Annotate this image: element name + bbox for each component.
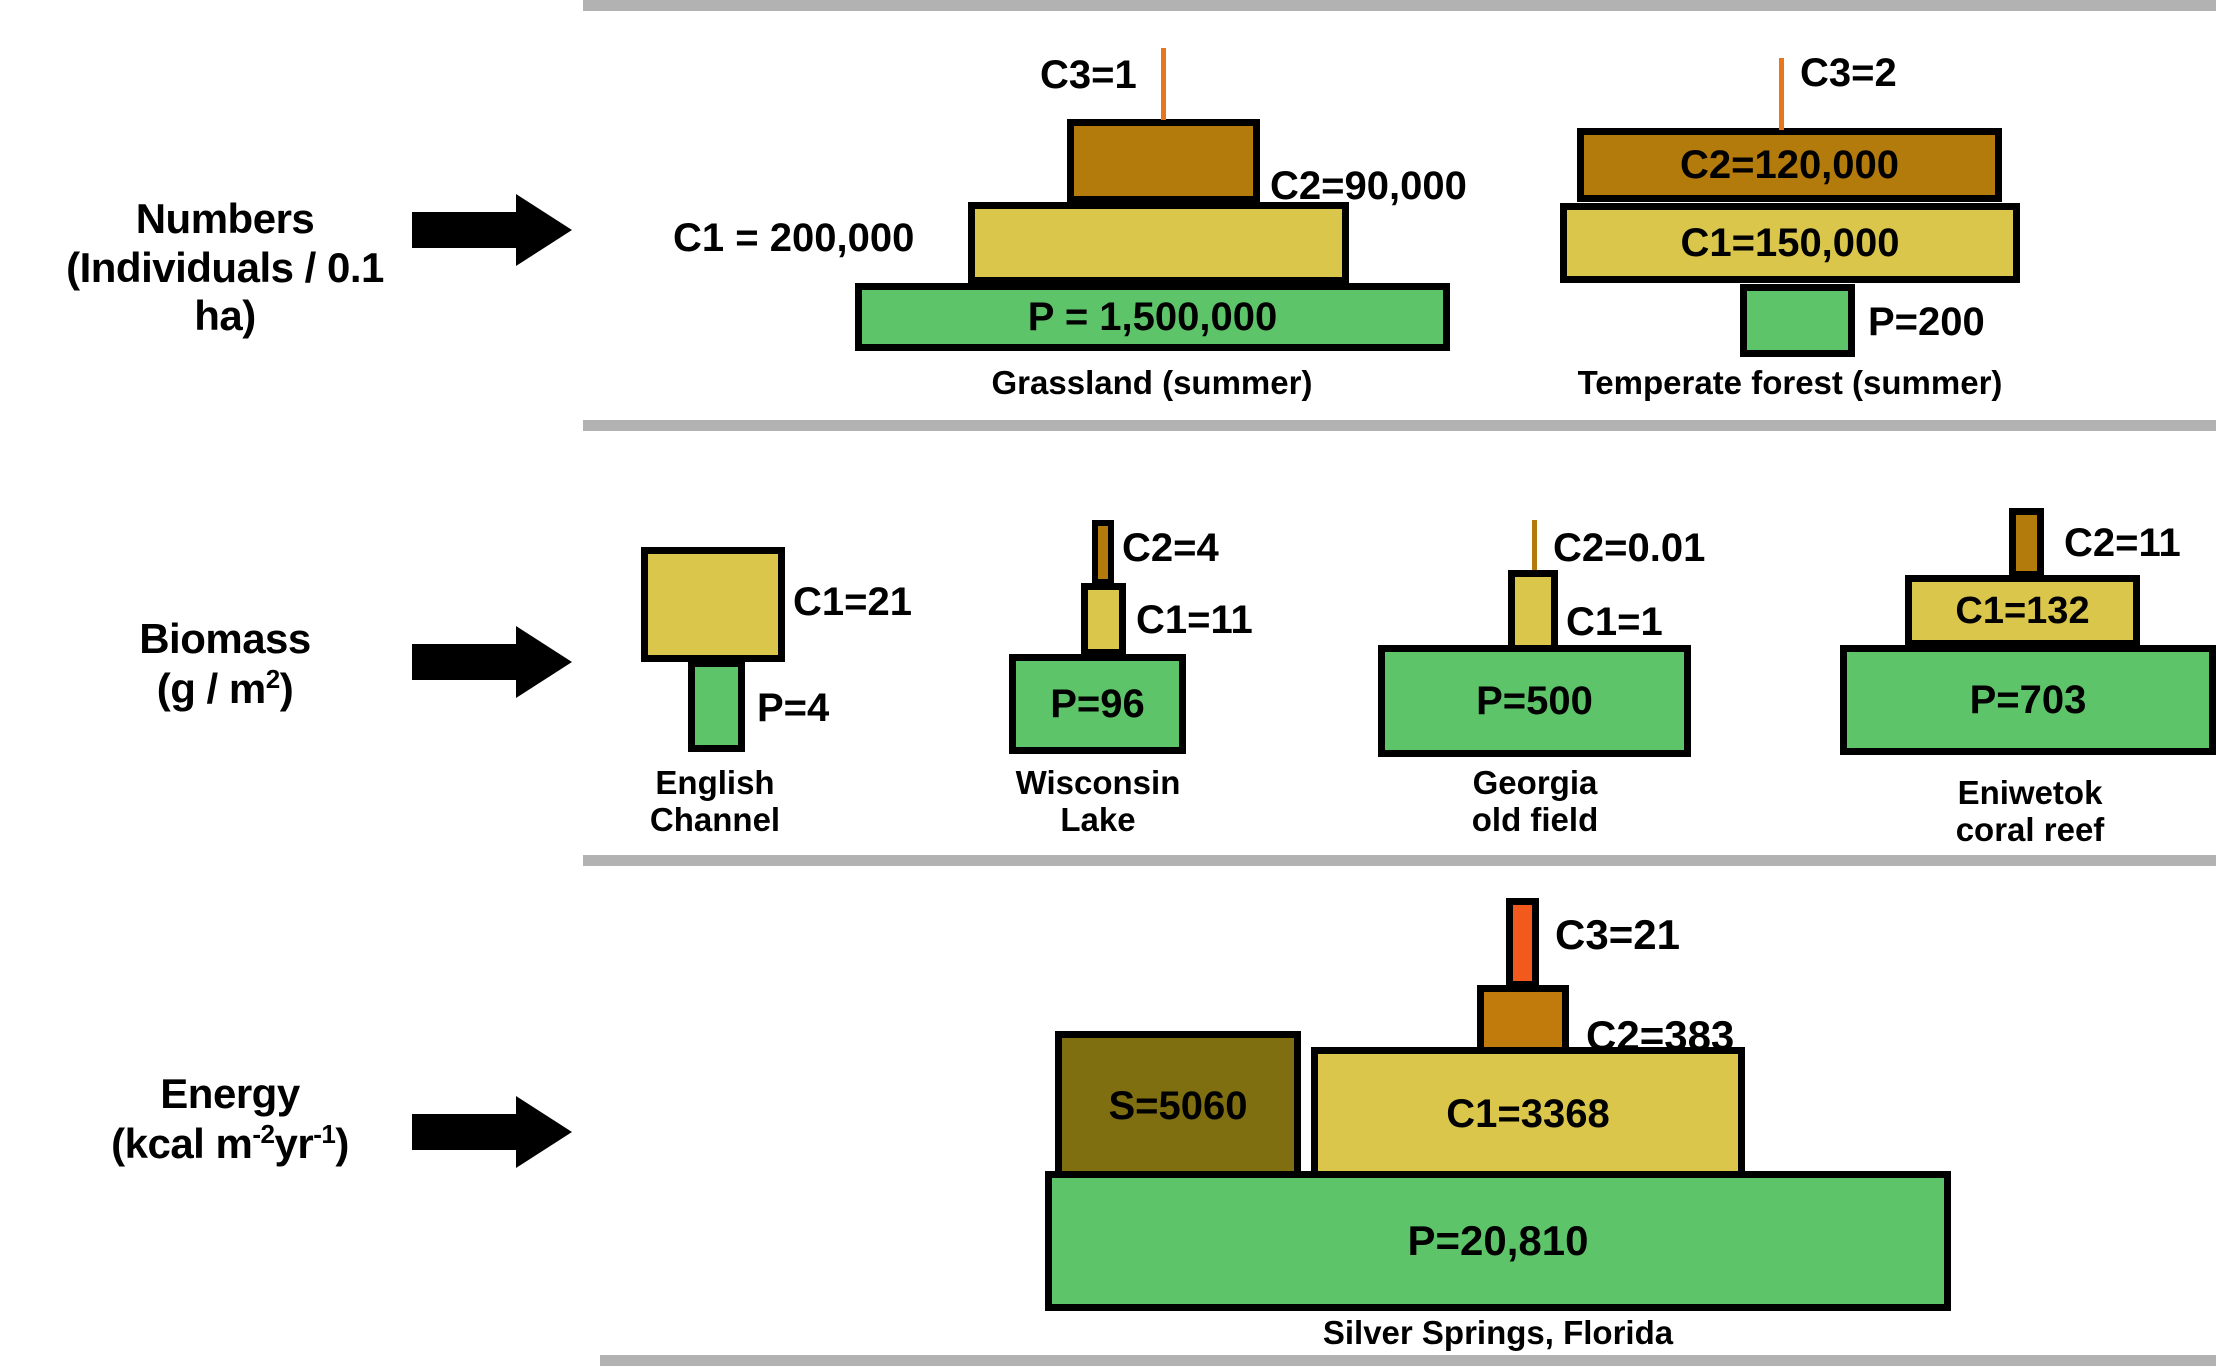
separator-top xyxy=(583,0,2216,11)
pyramid-level-english-channel-C1 xyxy=(641,547,785,662)
pyramid-level-label-eniwetok-coral-reef-C1: C1=132 xyxy=(1955,590,2089,633)
pyramid-caption-wisconsin-lake-line1: Wisconsin xyxy=(1016,764,1181,801)
row-label-energy-line1: Energy xyxy=(55,1070,405,1119)
pyramid-level-label-wisconsin-lake-C1: C1=11 xyxy=(1136,598,1253,643)
row-label-biomass-line1: Biomass xyxy=(55,615,395,664)
separator-bottom xyxy=(600,1355,2216,1366)
pyramid-caption-wisconsin-lake-line2: Lake xyxy=(1060,801,1135,838)
pyramid-level-label-eniwetok-coral-reef-P: P=703 xyxy=(1970,678,2087,723)
pyramid-level-label-grassland-C1: C1 = 200,000 xyxy=(673,216,914,261)
pyramid-level-label-grassland-C3: C3=1 xyxy=(1040,53,1137,98)
pyramid-caption-georgia-old-field: Georgia old field xyxy=(1385,765,1685,839)
right-arrow-icon-numbers xyxy=(412,194,572,266)
pyramid-level-label-temperate-forest-C1: C1=150,000 xyxy=(1680,221,1899,266)
pyramid-level-label-grassland-P: P = 1,500,000 xyxy=(1028,295,1278,340)
pyramid-caption-temperate-forest: Temperate forest (summer) xyxy=(1490,365,2090,402)
ecological-pyramids-figure: Numbers (Individuals / 0.1 ha) P = 1,500… xyxy=(0,0,2216,1372)
pyramid-level-eniwetok-coral-reef-C2 xyxy=(2009,508,2044,578)
row-label-biomass: Biomass (g / m2) xyxy=(55,615,395,713)
pyramid-caption-wisconsin-lake: Wisconsin Lake xyxy=(948,765,1248,839)
pyramid-caption-eniwetok-coral-reef: Eniwetok coral reef xyxy=(1870,775,2190,849)
pyramid-level-wisconsin-lake-C2 xyxy=(1092,520,1114,585)
pyramid-level-temperate-forest-P xyxy=(1740,284,1855,357)
pyramid-level-wisconsin-lake-C1 xyxy=(1081,583,1126,656)
separator-biomass-energy xyxy=(583,855,2216,866)
pyramid-level-grassland-C1 xyxy=(968,202,1349,284)
pyramid-level-label-wisconsin-lake-P: P=96 xyxy=(1050,682,1145,727)
pyramid-level-label-english-channel-C1: C1=21 xyxy=(793,580,912,625)
pyramid-level-georgia-old-field-C2-tick xyxy=(1532,520,1537,572)
pyramid-level-temperate-forest-C1: C1=150,000 xyxy=(1560,203,2020,283)
pyramid-caption-eniwetok-coral-reef-line2: coral reef xyxy=(1956,811,2105,848)
pyramid-caption-georgia-old-field-line1: Georgia xyxy=(1473,764,1598,801)
row-label-energy: Energy (kcal m-2yr-1) xyxy=(55,1070,405,1168)
pyramid-level-label-silver-springs-S: S=5060 xyxy=(1108,1084,1247,1129)
pyramid-level-eniwetok-coral-reef-P: P=703 xyxy=(1840,645,2216,755)
pyramid-caption-eniwetok-coral-reef-line1: Eniwetok xyxy=(1958,774,2103,811)
pyramid-level-silver-springs-C3 xyxy=(1506,898,1539,988)
row-label-biomass-line2: (g / m2) xyxy=(55,664,395,714)
row-label-numbers-line1: Numbers xyxy=(45,195,405,244)
pyramid-level-grassland-C3-tick xyxy=(1161,48,1166,120)
pyramid-level-label-georgia-old-field-C2: C2=0.01 xyxy=(1553,526,1705,571)
pyramid-level-silver-springs-C1: C1=3368 xyxy=(1311,1047,1745,1182)
pyramid-level-english-channel-P xyxy=(688,660,745,752)
pyramid-level-label-temperate-forest-C3: C3=2 xyxy=(1800,51,1897,96)
pyramid-caption-silver-springs: Silver Springs, Florida xyxy=(1045,1315,1951,1352)
pyramid-level-label-grassland-C2: C2=90,000 xyxy=(1270,164,1467,209)
pyramid-level-georgia-old-field-P: P=500 xyxy=(1378,645,1691,757)
pyramid-level-label-english-channel-P: P=4 xyxy=(757,686,829,731)
pyramid-level-temperate-forest-C3-tick xyxy=(1779,58,1784,130)
pyramid-level-wisconsin-lake-P: P=96 xyxy=(1009,654,1186,754)
pyramid-level-temperate-forest-C2: C2=120,000 xyxy=(1577,128,2002,202)
pyramid-caption-english-channel: English Channel xyxy=(565,765,865,839)
pyramid-level-grassland-C2 xyxy=(1067,119,1260,203)
right-arrow-icon-biomass xyxy=(412,626,572,698)
pyramid-caption-georgia-old-field-line2: old field xyxy=(1472,801,1599,838)
pyramid-level-label-silver-springs-C1: C1=3368 xyxy=(1446,1092,1609,1137)
pyramid-level-silver-springs-P: P=20,810 xyxy=(1045,1171,1951,1311)
pyramid-level-label-silver-springs-P: P=20,810 xyxy=(1407,1217,1588,1265)
pyramid-level-label-georgia-old-field-P: P=500 xyxy=(1476,679,1593,724)
pyramid-level-label-silver-springs-C3: C3=21 xyxy=(1555,911,1680,959)
pyramid-level-label-eniwetok-coral-reef-C2: C2=11 xyxy=(2064,521,2181,566)
pyramid-level-label-georgia-old-field-C1: C1=1 xyxy=(1566,600,1663,645)
pyramid-level-grassland-P: P = 1,500,000 xyxy=(855,283,1450,351)
pyramid-caption-english-channel-line2: Channel xyxy=(650,801,780,838)
pyramid-caption-grassland: Grassland (summer) xyxy=(852,365,1452,402)
pyramid-level-silver-springs-S: S=5060 xyxy=(1055,1031,1301,1182)
row-label-numbers: Numbers (Individuals / 0.1 ha) xyxy=(45,195,405,341)
pyramid-level-eniwetok-coral-reef-C1: C1=132 xyxy=(1905,575,2140,647)
right-arrow-icon-energy xyxy=(412,1096,572,1168)
pyramid-level-label-wisconsin-lake-C2: C2=4 xyxy=(1122,526,1219,571)
row-label-numbers-line2: (Individuals / 0.1 ha) xyxy=(45,244,405,341)
pyramid-level-label-temperate-forest-C2: C2=120,000 xyxy=(1680,143,1899,188)
separator-numbers-biomass xyxy=(583,420,2216,431)
pyramid-level-label-temperate-forest-P: P=200 xyxy=(1868,300,1985,345)
pyramid-caption-english-channel-line1: English xyxy=(655,764,774,801)
row-label-energy-line2: (kcal m-2yr-1) xyxy=(55,1119,405,1169)
